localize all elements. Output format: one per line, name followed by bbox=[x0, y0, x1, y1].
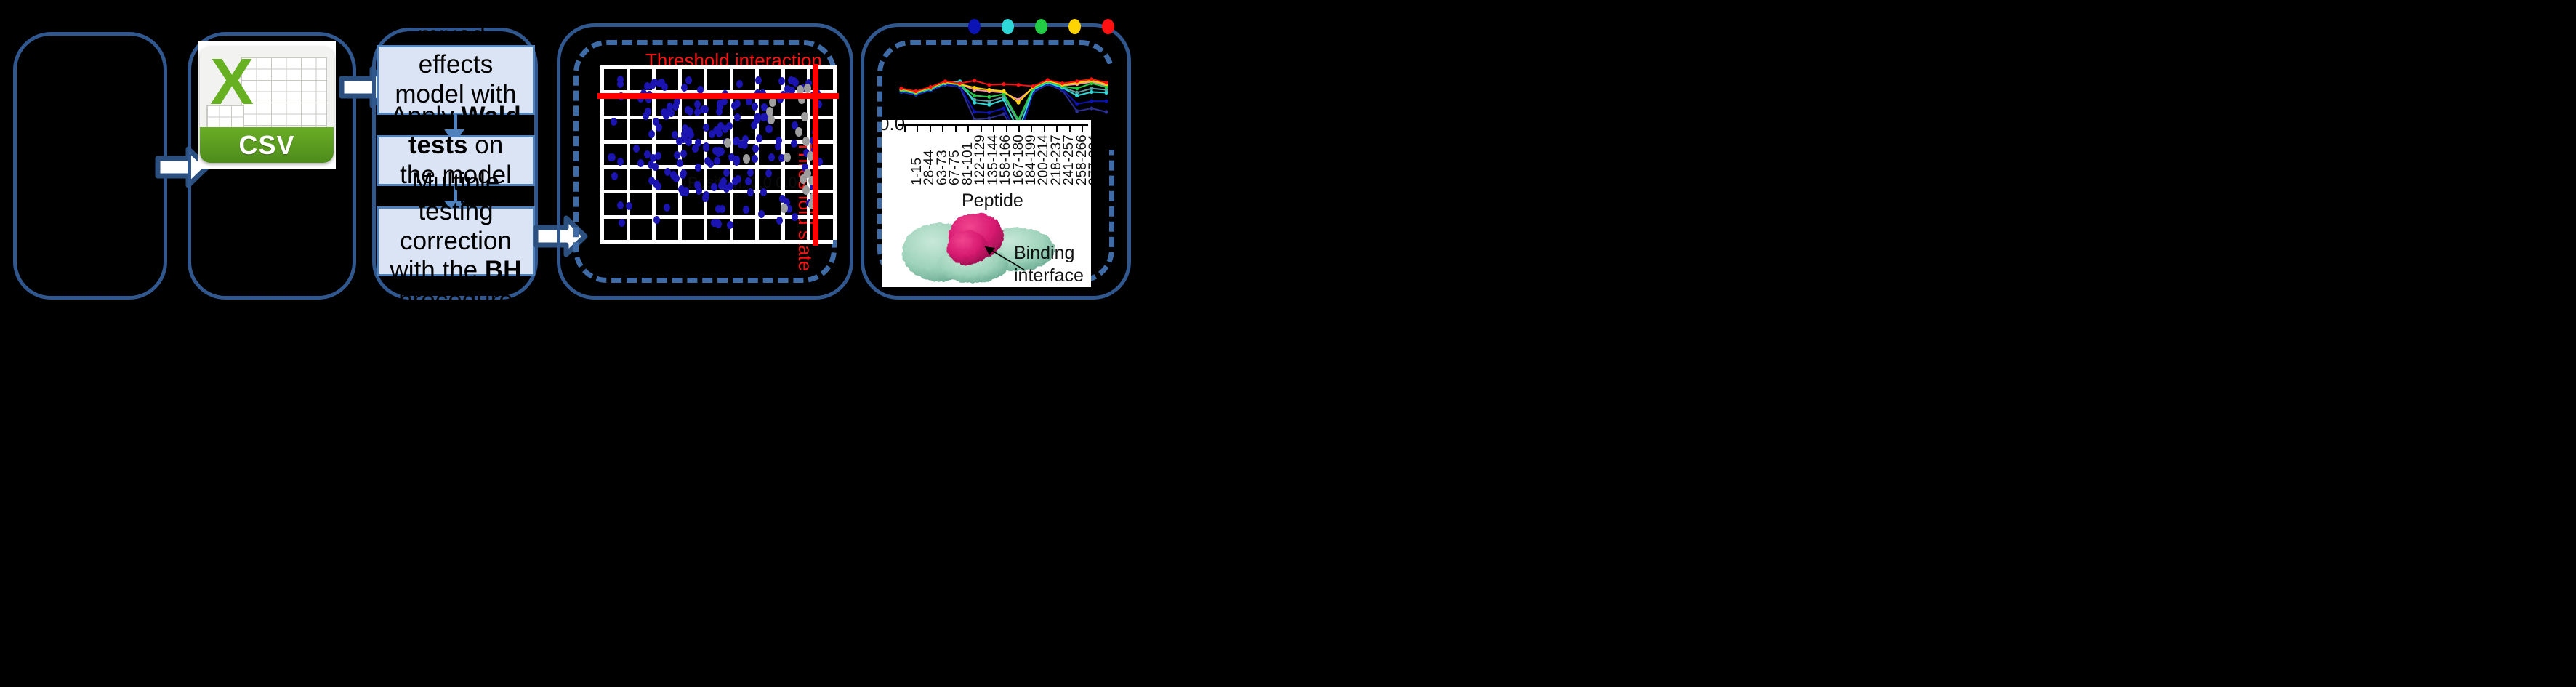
legend-dot-0 bbox=[968, 19, 981, 34]
scatter-point-significant bbox=[649, 81, 656, 89]
line-marker bbox=[1017, 83, 1021, 87]
scatter-gridline-v bbox=[833, 65, 837, 240]
line-marker bbox=[1031, 84, 1035, 88]
scatter-point-significant bbox=[680, 150, 687, 158]
scatter-point-significant bbox=[722, 125, 728, 133]
multiple-testing-box-text: Multiple testingcorrectionwith the BH pr… bbox=[385, 168, 527, 316]
threshold-interaction-line bbox=[597, 93, 839, 99]
scatter-gridline-v bbox=[730, 65, 733, 240]
line-marker bbox=[1046, 78, 1050, 81]
scatter-point-nonsignificant bbox=[768, 115, 775, 124]
peptide-tick bbox=[955, 124, 957, 132]
scatter-point-nonsignificant bbox=[804, 84, 811, 93]
scatter-point-significant bbox=[703, 124, 709, 132]
csv-extension-band: CSV bbox=[200, 127, 334, 163]
line-marker bbox=[987, 83, 991, 87]
line-marker bbox=[973, 79, 976, 82]
scatter-point-significant bbox=[727, 221, 733, 229]
scatter-point-significant bbox=[736, 80, 743, 88]
binding-interface-annotation: Binding interface bbox=[1014, 242, 1084, 286]
scatter-point-significant bbox=[680, 171, 686, 179]
legend-dot-1 bbox=[1002, 19, 1014, 34]
line-marker bbox=[973, 94, 976, 97]
scatter-point-significant bbox=[709, 130, 715, 138]
scatter-point-significant bbox=[653, 118, 659, 126]
scatter-point-significant bbox=[668, 109, 675, 117]
scatter-point-significant bbox=[611, 172, 618, 180]
scatter-point-nonsignificant bbox=[801, 112, 808, 121]
multiple-testing-box: Multiple testingcorrectionwith the BH pr… bbox=[377, 206, 535, 276]
line-marker bbox=[899, 87, 903, 90]
scatter-point-significant bbox=[653, 216, 660, 224]
scatter-point-significant bbox=[697, 86, 704, 94]
peptide-tick bbox=[993, 124, 994, 132]
scatter-point-significant bbox=[685, 76, 692, 84]
scatter-point-significant bbox=[611, 118, 617, 126]
peptide-tick bbox=[1031, 124, 1032, 132]
scatter-point-significant bbox=[702, 194, 709, 202]
binding-interface-line-1: Binding bbox=[1014, 243, 1074, 263]
line-marker bbox=[1104, 100, 1108, 103]
line-marker bbox=[987, 88, 991, 92]
excel-x-glyph: X bbox=[210, 49, 254, 115]
peptide-tick bbox=[1056, 124, 1058, 132]
scatter-point-significant bbox=[692, 145, 699, 153]
line-marker bbox=[973, 86, 976, 89]
line-marker bbox=[1002, 89, 1005, 93]
scatter-point-significant bbox=[747, 188, 754, 196]
scatter-gridline-h bbox=[600, 116, 833, 119]
scatter-gridline-h bbox=[600, 190, 833, 193]
line-marker bbox=[1090, 87, 1093, 90]
line-marker bbox=[1075, 79, 1079, 83]
scatter-point-significant bbox=[681, 84, 688, 92]
peptide-tick bbox=[981, 124, 982, 132]
line-marker bbox=[1075, 94, 1079, 97]
binding-interface-line-2: interface bbox=[1014, 265, 1084, 286]
scatter-point-significant bbox=[721, 97, 728, 105]
scatter-gridline-h bbox=[600, 140, 833, 144]
line-marker bbox=[987, 111, 991, 114]
peptide-tick bbox=[1044, 124, 1045, 132]
scatter-point-significant bbox=[747, 169, 754, 177]
scatter-point-nonsignificant bbox=[802, 185, 810, 195]
scatter-point-significant bbox=[760, 188, 767, 196]
line-marker bbox=[1075, 109, 1079, 113]
scatter-point-significant bbox=[664, 204, 670, 212]
scatter-point-significant bbox=[778, 77, 785, 85]
scatter-point-significant bbox=[643, 112, 649, 120]
peptide-tick bbox=[930, 124, 931, 132]
line-marker bbox=[1002, 98, 1005, 102]
line-marker bbox=[1017, 101, 1021, 105]
scatter-point-significant bbox=[619, 219, 625, 227]
scatter-point-significant bbox=[766, 125, 773, 133]
csv-icon: X CSV bbox=[200, 47, 334, 163]
line-marker bbox=[943, 79, 947, 83]
scatter-point-significant bbox=[756, 134, 762, 142]
scatter-point-significant bbox=[617, 80, 624, 88]
scatter-point-significant bbox=[661, 108, 667, 116]
line-marker bbox=[1104, 81, 1108, 84]
scatter-point-significant bbox=[702, 105, 709, 113]
scatter-gridline-h bbox=[600, 240, 833, 244]
scatter-point-nonsignificant bbox=[724, 138, 731, 148]
scatter-point-significant bbox=[752, 155, 758, 163]
scatter-gridline-v bbox=[704, 65, 707, 240]
scatter-point-nonsignificant bbox=[802, 137, 810, 146]
scatter-gridline-h bbox=[600, 165, 833, 169]
scatter-gridline-h bbox=[600, 65, 833, 69]
scatter-point-significant bbox=[734, 100, 741, 108]
line-marker bbox=[1075, 87, 1079, 90]
scatter-point-significant bbox=[776, 217, 783, 225]
line-marker bbox=[1075, 103, 1079, 106]
peptide-tick bbox=[967, 124, 969, 132]
legend-dot-4 bbox=[1102, 19, 1114, 34]
scatter-point-nonsignificant bbox=[743, 154, 750, 164]
line-marker bbox=[1060, 81, 1064, 85]
scatter-point-significant bbox=[714, 157, 720, 165]
line-marker bbox=[1104, 110, 1108, 113]
line-marker bbox=[973, 110, 976, 113]
peptide-tick bbox=[917, 124, 918, 132]
scatter-point-significant bbox=[617, 201, 624, 209]
line-marker bbox=[1090, 106, 1093, 110]
line-marker bbox=[987, 100, 991, 103]
scatter-point-significant bbox=[687, 108, 693, 116]
scatter-point-significant bbox=[752, 103, 758, 111]
scatter-point-significant bbox=[695, 164, 701, 172]
scatter-point-significant bbox=[626, 202, 632, 210]
line-marker bbox=[987, 103, 991, 107]
scatter-point-nonsignificant bbox=[800, 174, 807, 184]
legend-dot-2 bbox=[1035, 19, 1047, 34]
scatter-point-significant bbox=[755, 76, 762, 84]
peptide-tick bbox=[942, 124, 943, 132]
peptide-tick bbox=[1006, 124, 1007, 132]
peptide-tick bbox=[1082, 124, 1083, 132]
scatter-point-significant bbox=[715, 205, 722, 213]
scatter-point-significant bbox=[716, 108, 723, 116]
line-marker bbox=[1090, 77, 1093, 81]
scatter-point-significant bbox=[743, 206, 749, 214]
scatter-gridline-v bbox=[627, 65, 630, 240]
input-panel bbox=[13, 32, 167, 300]
scatter-point-significant bbox=[676, 137, 683, 145]
line-marker bbox=[1090, 100, 1093, 103]
scatter-point-significant bbox=[633, 145, 640, 153]
scatter-point-significant bbox=[768, 153, 775, 161]
peptide-tick bbox=[904, 124, 906, 132]
y-tick-label: 0.0 bbox=[882, 120, 905, 135]
csv-extension-label: CSV bbox=[238, 130, 294, 161]
csv-file-thumbnail: X CSV bbox=[198, 41, 336, 169]
scatter-point-significant bbox=[720, 177, 727, 185]
legend-dot-3 bbox=[1068, 19, 1081, 34]
scatter-point-significant bbox=[672, 131, 678, 139]
peptide-tick bbox=[1018, 124, 1020, 132]
threshold-state-line bbox=[813, 64, 818, 246]
line-marker bbox=[1002, 82, 1005, 86]
volcano-scatter-plot: Threshold interaction Threshold state Po… bbox=[600, 65, 833, 240]
scatter-point-significant bbox=[652, 163, 659, 171]
scatter-point-significant bbox=[733, 156, 740, 164]
scatter-point-significant bbox=[677, 159, 683, 167]
scatter-point-nonsignificant bbox=[795, 127, 802, 137]
figure-canvas: X CSV Fit a linear mixed-effects model w… bbox=[0, 0, 2576, 687]
line-marker bbox=[1002, 106, 1005, 110]
scatter-point-significant bbox=[734, 113, 741, 121]
line-marker bbox=[987, 95, 991, 99]
line-marker bbox=[914, 89, 918, 93]
line-marker bbox=[929, 85, 933, 89]
scatter-point-significant bbox=[775, 142, 781, 150]
scatter-point-significant bbox=[792, 213, 798, 221]
line-marker bbox=[958, 81, 962, 85]
scatter-point-nonsignificant bbox=[781, 204, 788, 213]
peptide-tick-label: 277-284 bbox=[1087, 134, 1091, 185]
scatter-point-significant bbox=[711, 183, 717, 191]
line-marker bbox=[1104, 91, 1108, 95]
peptide-axis-and-structure-card: 0.0 Peptide bbox=[882, 120, 1091, 287]
line-marker bbox=[973, 101, 976, 105]
scatter-gridline-v bbox=[600, 65, 604, 240]
peptide-tick bbox=[1069, 124, 1071, 132]
scatter-point-significant bbox=[694, 108, 701, 116]
scatter-point-significant bbox=[707, 160, 714, 168]
scatter-point-significant bbox=[609, 153, 616, 161]
scatter-point-significant bbox=[742, 135, 749, 143]
scatter-point-significant bbox=[733, 137, 739, 145]
scatter-point-nonsignificant bbox=[784, 153, 791, 162]
line-marker bbox=[1090, 90, 1093, 94]
scatter-point-significant bbox=[674, 151, 680, 159]
